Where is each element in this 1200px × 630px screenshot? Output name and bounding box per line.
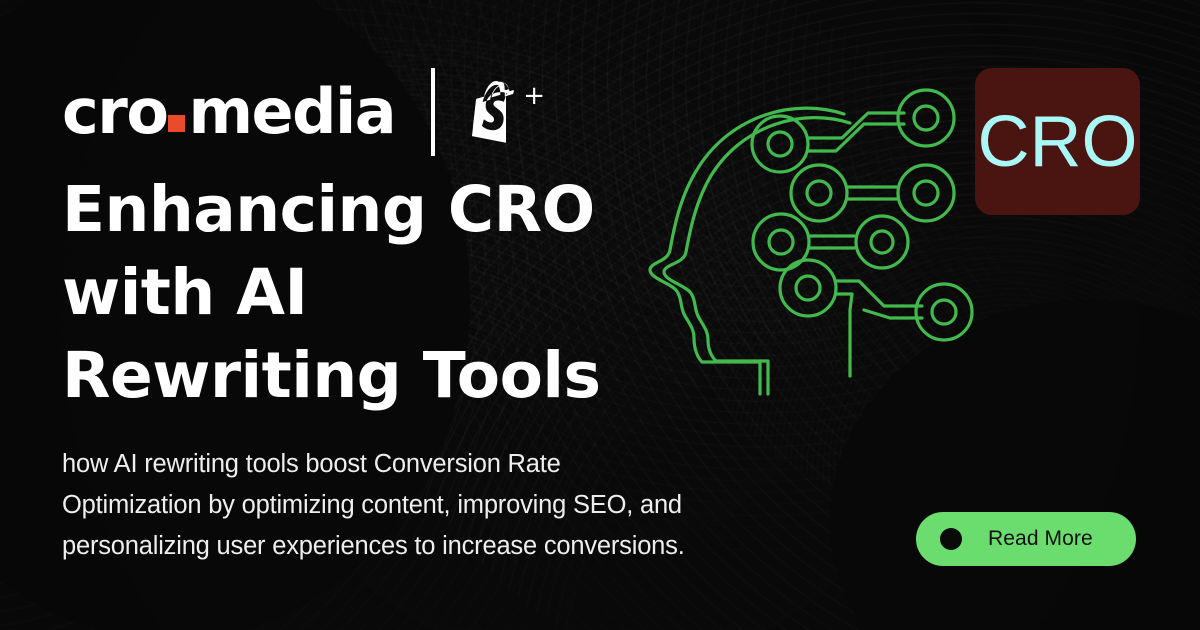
cro-badge: CRO xyxy=(975,68,1140,215)
subtitle-line-1: how AI rewriting tools boost Conversion … xyxy=(62,444,802,485)
filled-circle-icon xyxy=(940,528,962,550)
headline-line-3: Rewriting Tools xyxy=(62,334,702,417)
page-subtitle: how AI rewriting tools boost Conversion … xyxy=(62,444,802,567)
shopify-bag-glyph xyxy=(469,79,531,145)
read-more-button[interactable]: Read More xyxy=(916,512,1136,566)
brand-dot-icon xyxy=(168,115,185,132)
shopify-plus-icon: + xyxy=(523,83,545,109)
brand-divider xyxy=(431,68,435,156)
brand-wordmark-cro: cro xyxy=(62,81,167,143)
brand-wordmark[interactable]: cro media xyxy=(62,81,395,143)
shopify-bag-icon: + xyxy=(469,79,531,145)
banner-stage: cro media + Enhancing CRO with AI Rewrit… xyxy=(0,0,1200,630)
ai-head-svg xyxy=(636,78,976,414)
subtitle-line-2: Optimization by optimizing content, impr… xyxy=(62,485,802,526)
brand-row: cro media + xyxy=(62,66,531,158)
brand-wordmark-media: media xyxy=(188,81,395,143)
headline-line-2: with AI xyxy=(62,251,702,334)
headline-line-1: Enhancing CRO xyxy=(62,168,702,251)
subtitle-line-3: personalizing user experiences to increa… xyxy=(62,526,802,567)
page-title: Enhancing CRO with AI Rewriting Tools xyxy=(62,168,702,417)
ai-head-circuit-icon xyxy=(636,78,976,414)
read-more-label: Read More xyxy=(988,527,1093,551)
cro-badge-label: CRO xyxy=(978,106,1138,178)
